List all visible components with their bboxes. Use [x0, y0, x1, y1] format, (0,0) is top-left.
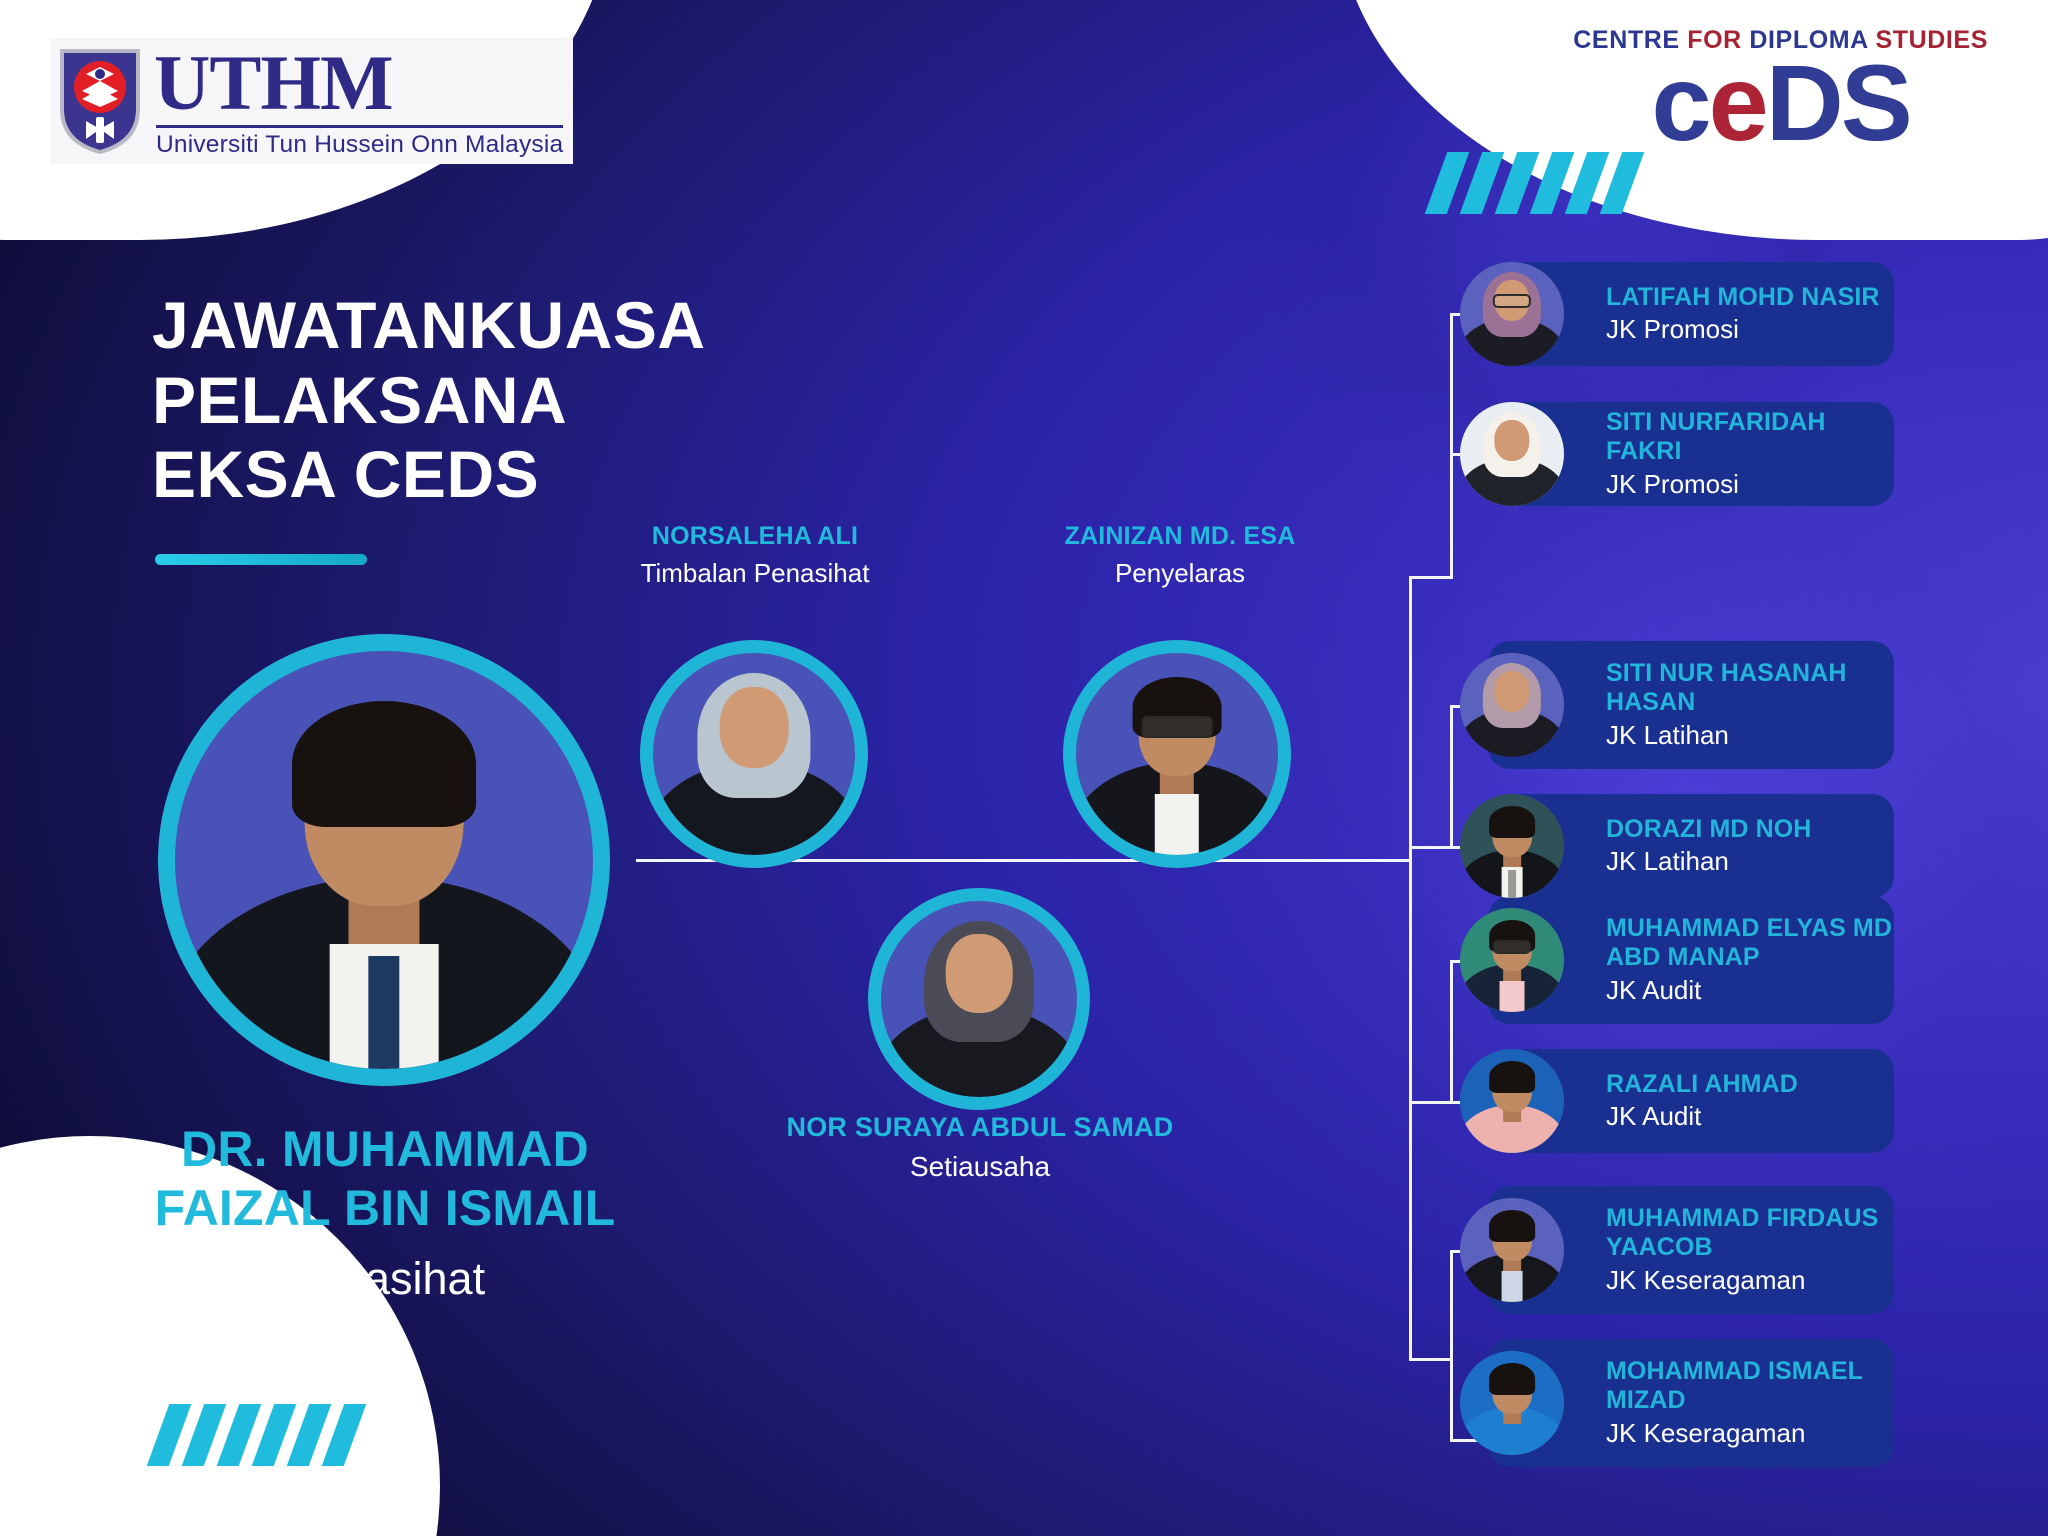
page-title-line-1: JAWATANKUASA	[152, 288, 832, 363]
avatar-photo-razali	[1460, 1049, 1564, 1153]
committee-member-role: JK Latihan	[1606, 846, 1894, 877]
poster-canvas: UTHM Universiti Tun Hussein Onn Malaysia…	[0, 0, 2048, 1536]
advisor-name-line-2: FAIZAL BIN ISMAIL	[80, 1179, 690, 1238]
uthm-tagline: Universiti Tun Hussein Onn Malaysia	[154, 133, 563, 158]
advisor-name-line-1: DR. MUHAMMAD	[80, 1120, 690, 1179]
committee-member-role: JK Audit	[1606, 1101, 1894, 1132]
slash-mark	[1600, 152, 1645, 214]
avatar-photo-elyas	[1460, 908, 1564, 1012]
connector-group-audit-stub	[1409, 1101, 1453, 1104]
committee-member-name: SITI NUR HASANAH HASAN	[1606, 659, 1894, 718]
coordinator-name-block: ZAINIZAN MD. ESA Penyelaras	[985, 522, 1375, 589]
uthm-divider	[156, 125, 563, 128]
avatar-photo-firdaus	[1460, 1198, 1564, 1302]
connector-group-audit-spine	[1450, 960, 1453, 1103]
page-title: JAWATANKUASA PELAKSANA EKSA CEDS	[152, 288, 832, 512]
decorative-slashes-bottom-left	[158, 1404, 382, 1466]
committee-card[interactable]: SITI NURFARIDAH FAKRI JK Promosi	[1488, 402, 1894, 506]
glasses-icon	[1142, 716, 1213, 738]
avatar-photo-ismael	[1460, 1351, 1564, 1455]
committee-member-role: JK Promosi	[1606, 314, 1894, 345]
uthm-crest-icon	[56, 47, 144, 155]
avatar-photo-deputy	[640, 640, 868, 868]
committee-member-name: MOHAMMAD ISMAEL MIZAD	[1606, 1357, 1894, 1416]
slash-mark	[322, 1404, 367, 1466]
deputy-name-block: NORSALEHA ALI Timbalan Penasihat	[560, 522, 950, 589]
connector-group-latihan-stub	[1409, 846, 1453, 849]
committee-card[interactable]: MUHAMMAD FIRDAUS YAACOB JK Keseragaman	[1488, 1186, 1894, 1314]
ceds-logo: CENTRE FOR DIPLOMA STUDIES ceDS	[1573, 26, 1988, 150]
coordinator-role: Penyelaras	[985, 558, 1375, 589]
connector-main-spine	[1409, 576, 1412, 1361]
committee-member-name: SITI NURFARIDAH FAKRI	[1606, 408, 1894, 467]
page-title-line-3: EKSA CEDS	[152, 437, 832, 512]
avatar-photo-advisor	[158, 634, 610, 1086]
avatar-photo-nurfaridah	[1460, 402, 1564, 506]
committee-member-role: JK Keseragaman	[1606, 1265, 1894, 1296]
avatar-photo-secretary	[868, 888, 1090, 1110]
page-title-underline	[155, 554, 367, 565]
committee-card[interactable]: DORAZI MD NOH JK Latihan	[1488, 794, 1894, 898]
connector-group-latihan-spine	[1450, 705, 1453, 848]
connector-group-keseragaman-stub	[1409, 1358, 1453, 1361]
avatar-photo-latifah	[1460, 262, 1564, 366]
connector-group-promosi-stub	[1409, 576, 1453, 579]
committee-card[interactable]: MOHAMMAD ISMAEL MIZAD JK Keseragaman	[1488, 1339, 1894, 1467]
uthm-wordmark-text: UTHM	[154, 44, 563, 122]
committee-member-role: JK Latihan	[1606, 720, 1894, 751]
committee-member-name: LATIFAH MOHD NASIR	[1606, 283, 1894, 312]
committee-card[interactable]: SITI NUR HASANAH HASAN JK Latihan	[1488, 641, 1894, 769]
committee-member-name: DORAZI MD NOH	[1606, 815, 1894, 844]
uthm-logo: UTHM Universiti Tun Hussein Onn Malaysia	[50, 38, 573, 164]
committee-card[interactable]: LATIFAH MOHD NASIR JK Promosi	[1488, 262, 1894, 366]
committee-member-name: RAZALI AHMAD	[1606, 1070, 1894, 1099]
committee-member-name: MUHAMMAD FIRDAUS YAACOB	[1606, 1204, 1894, 1263]
secretary-name: NOR SURAYA ABDUL SAMAD	[740, 1112, 1220, 1144]
decorative-slashes-top-right	[1436, 152, 1660, 214]
committee-member-role: JK Keseragaman	[1606, 1418, 1894, 1449]
advisor-name-block: DR. MUHAMMAD FAIZAL BIN ISMAIL Penasihat	[80, 1120, 690, 1306]
coordinator-name: ZAINIZAN MD. ESA	[985, 522, 1375, 552]
secretary-name-block: NOR SURAYA ABDUL SAMAD Setiausaha	[740, 1112, 1220, 1183]
committee-member-role: JK Audit	[1606, 975, 1894, 1006]
connector-group-keseragaman-spine	[1450, 1250, 1453, 1442]
ceds-wordmark: ceDS	[1573, 57, 1988, 150]
avatar-photo-coordinator	[1063, 640, 1291, 868]
deputy-role: Timbalan Penasihat	[560, 558, 950, 589]
avatar-photo-dorazi	[1460, 794, 1564, 898]
deputy-name: NORSALEHA ALI	[560, 522, 950, 552]
avatar-photo-hasanah	[1460, 653, 1564, 757]
committee-card[interactable]: RAZALI AHMAD JK Audit	[1488, 1049, 1894, 1153]
advisor-role: Penasihat	[80, 1252, 690, 1306]
committee-member-role: JK Promosi	[1606, 469, 1894, 500]
connector-group-promosi-spine	[1450, 313, 1453, 579]
committee-member-name: MUHAMMAD ELYAS MD ABD MANAP	[1606, 914, 1894, 973]
committee-card[interactable]: MUHAMMAD ELYAS MD ABD MANAP JK Audit	[1488, 896, 1894, 1024]
secretary-role: Setiausaha	[740, 1150, 1220, 1184]
page-title-line-2: PELAKSANA	[152, 363, 832, 438]
